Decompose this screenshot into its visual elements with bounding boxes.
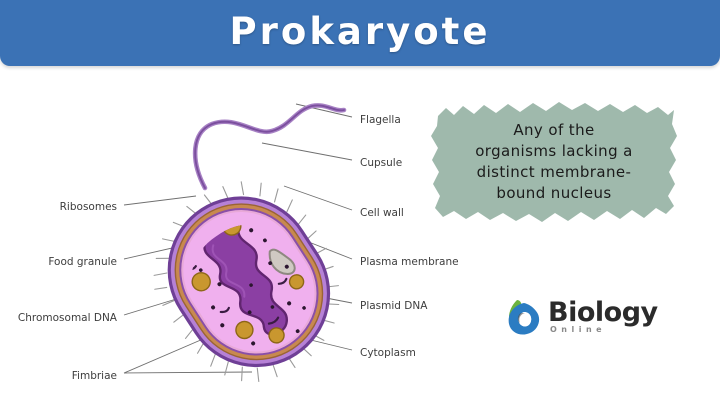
label-ribosomes: Ribosomes xyxy=(0,201,117,213)
definition-line-3: distinct membrane- xyxy=(477,162,632,183)
definition-line-2: organisms lacking a xyxy=(475,141,633,162)
definition-line-4: bound nucleus xyxy=(496,183,611,204)
page-root: Prokaryote xyxy=(0,0,720,404)
label-cytoplasm: Cytoplasm xyxy=(360,347,416,359)
logo-subtext: Online xyxy=(550,325,606,335)
label-food-granule: Food granule xyxy=(0,256,117,268)
logo-wordmark: Biology xyxy=(548,298,658,328)
label-cupsule: Cupsule xyxy=(360,157,402,169)
label-chromosomal-dna: Chromosomal DNA xyxy=(0,312,117,324)
label-cell-wall: Cell wall xyxy=(360,207,404,219)
label-plasma-membrane: Plasma membrane xyxy=(360,256,459,268)
label-fimbriae: Fimbriae xyxy=(0,370,117,382)
biology-online-logo[interactable]: Biology Online xyxy=(503,296,653,342)
label-plasmid-dna: Plasmid DNA xyxy=(360,300,427,312)
biology-logo-mark xyxy=(503,296,545,338)
label-flagella: Flagella xyxy=(360,114,401,126)
definition-line-1: Any of the xyxy=(513,120,594,141)
definition-text: Any of the organisms lacking a distinct … xyxy=(430,100,678,224)
